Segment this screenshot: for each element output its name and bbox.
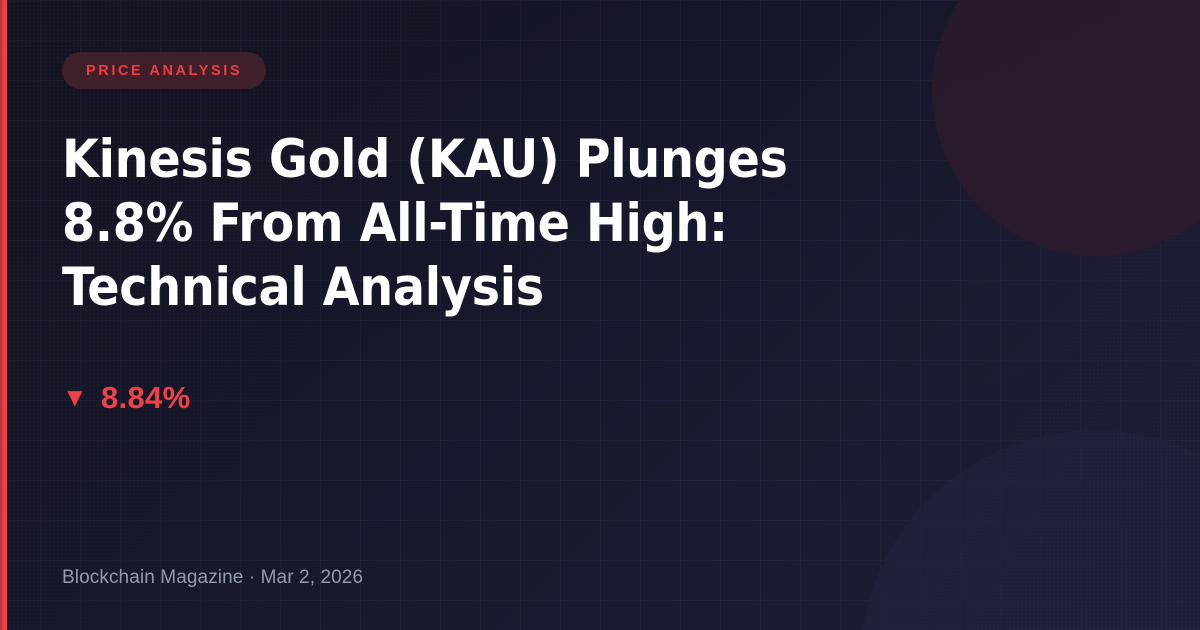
price-change-indicator: ▼ 8.84% xyxy=(62,380,190,416)
headline-line-3: Technical Analysis xyxy=(62,256,922,320)
category-badge: PRICE ANALYSIS xyxy=(62,52,266,89)
page-title: Kinesis Gold (KAU) Plunges 8.8% From All… xyxy=(62,128,922,320)
headline-line-1: Kinesis Gold (KAU) Plunges xyxy=(62,128,922,192)
footer-attribution: Blockchain Magazine · Mar 2, 2026 xyxy=(62,567,363,589)
price-analysis-social-card: PRICE ANALYSIS Kinesis Gold (KAU) Plunge… xyxy=(0,0,1200,630)
triangle-down-icon: ▼ xyxy=(62,384,88,410)
left-accent-bar xyxy=(0,0,7,630)
headline-line-2: 8.8% From All-Time High: xyxy=(62,192,922,256)
card-content: PRICE ANALYSIS Kinesis Gold (KAU) Plunge… xyxy=(62,0,1062,630)
price-change-value: 8.84% xyxy=(101,380,190,416)
